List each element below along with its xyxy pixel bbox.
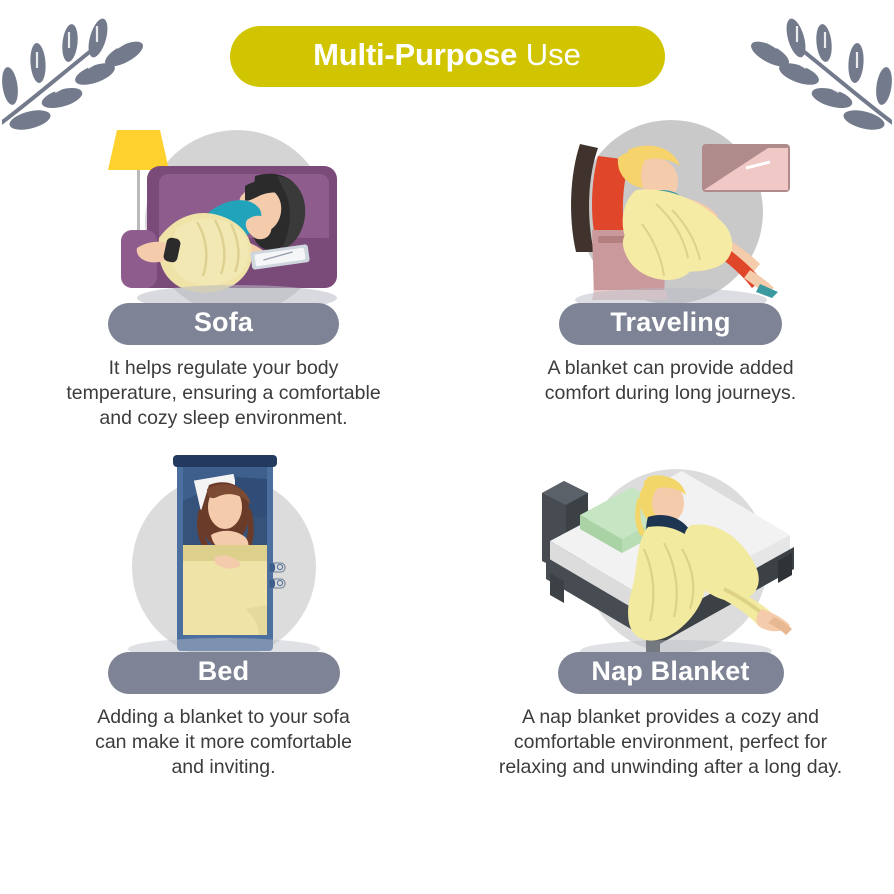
card-description-bed: Adding a blanket to your sofa can make i… <box>24 705 424 780</box>
card-description-sofa: It helps regulate your body temperature,… <box>24 356 424 431</box>
card-nap-blanket: Nap Blanket A nap blanket provides a coz… <box>447 449 894 780</box>
title-strong: Multi-Purpose <box>313 37 517 72</box>
illustration-bed <box>59 449 389 661</box>
card-label-bed[interactable]: Bed <box>108 652 340 694</box>
illustration-nap-blanket <box>506 449 836 661</box>
card-bed: Bed Adding a blanket to your sofa can ma… <box>0 449 447 780</box>
illustration-sofa <box>59 112 389 312</box>
card-sofa: Sofa It helps regulate your body tempera… <box>0 112 447 431</box>
feature-grid: Sofa It helps regulate your body tempera… <box>0 112 894 780</box>
card-label-nap-blanket[interactable]: Nap Blanket <box>558 652 784 694</box>
title-banner: Multi-Purpose Use <box>230 26 665 87</box>
card-description-nap-blanket: A nap blanket provides a cozy and comfor… <box>463 705 878 780</box>
title-light: Use <box>517 37 581 72</box>
card-traveling: Traveling A blanket can provide added co… <box>447 112 894 431</box>
card-description-traveling: A blanket can provide added comfort duri… <box>471 356 871 406</box>
title-banner-wrapper: Multi-Purpose Use <box>0 26 894 87</box>
illustration-traveling <box>506 112 836 312</box>
card-label-traveling[interactable]: Traveling <box>559 303 782 345</box>
card-label-sofa[interactable]: Sofa <box>108 303 339 345</box>
